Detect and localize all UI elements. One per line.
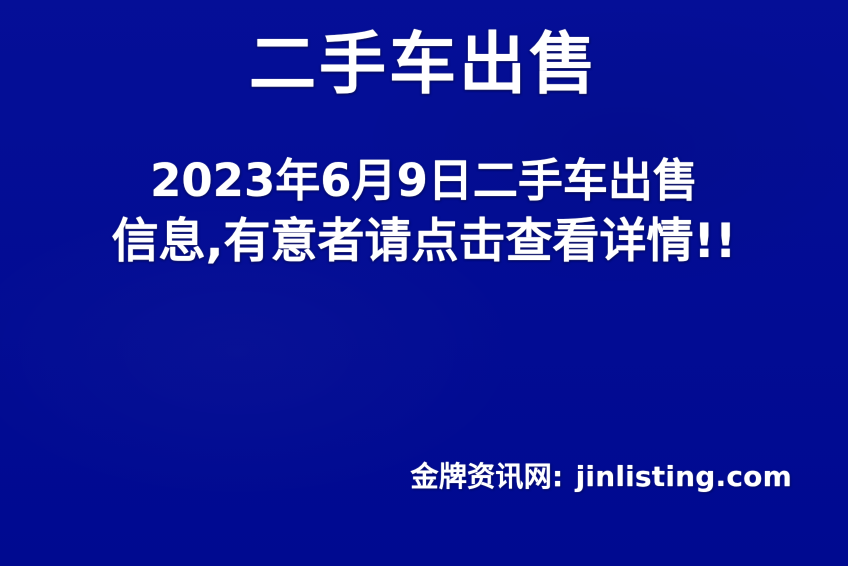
announcement-text: 2023年6月9日二手车出售 信息,有意者请点击查看详情!! <box>0 152 848 272</box>
site-url-label[interactable]: jinlisting.com <box>576 460 792 493</box>
announcement-line-1: 2023年6月9日二手车出售 <box>0 152 848 210</box>
announcement-line-2: 信息,有意者请点击查看详情!! <box>0 211 848 272</box>
site-name-label: 金牌资讯网: <box>411 460 564 493</box>
footer-attribution: 金牌资讯网: jinlisting.com <box>0 455 848 495</box>
poster-content: 二手车出售 2023年6月9日二手车出售 信息,有意者请点击查看详情!! 金牌资… <box>0 0 848 566</box>
page-title: 二手车出售 <box>0 27 848 102</box>
poster-canvas: 二手车出售 2023年6月9日二手车出售 信息,有意者请点击查看详情!! 金牌资… <box>0 0 848 566</box>
